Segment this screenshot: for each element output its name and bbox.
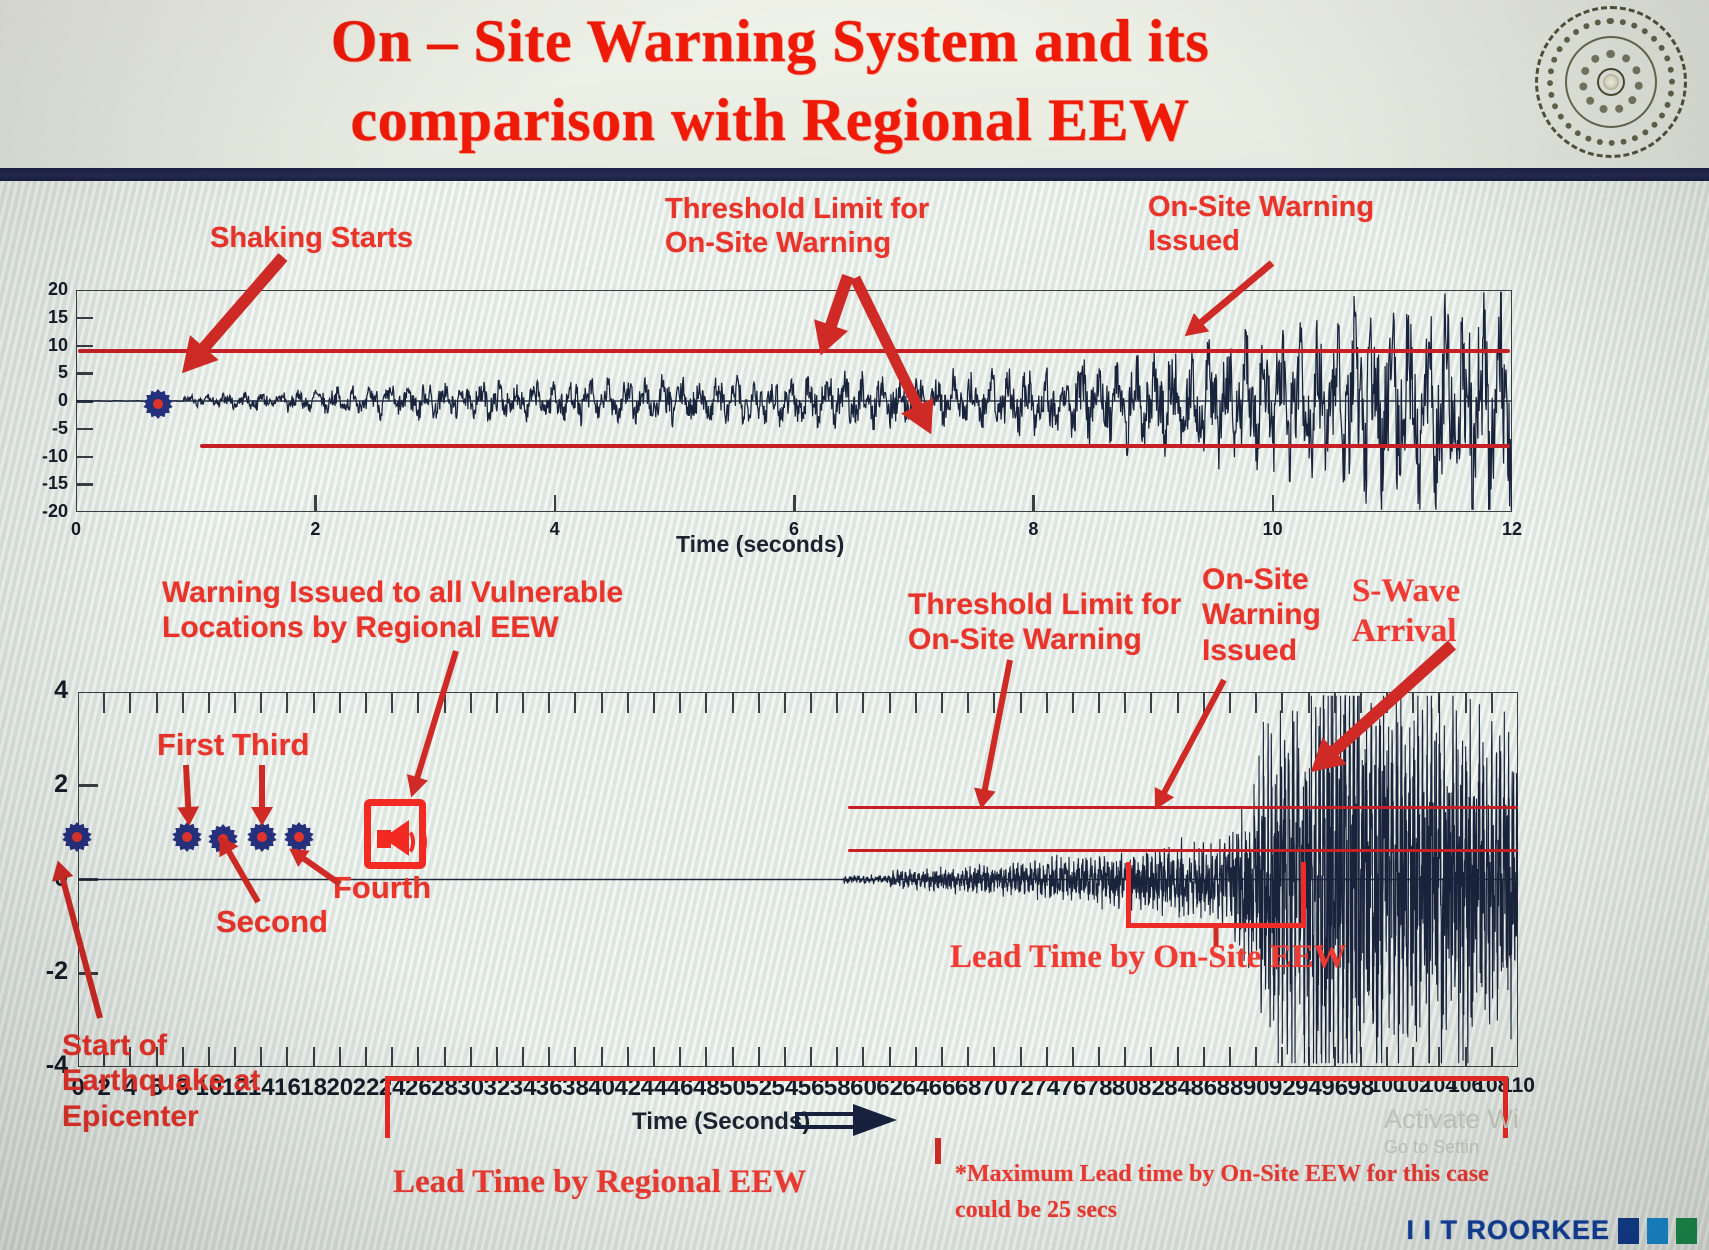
header-divider [0,168,1709,181]
bottom-y-tick-label: 4 [14,676,68,705]
third-label: Third [232,727,310,764]
top-x-tick-label: 4 [530,519,580,540]
threshold-limit-line-2: On-Site Warning [665,226,929,260]
onsite-line-1: On-Site [1202,562,1321,597]
top-y-tick-label: -10 [10,446,68,467]
note-line-1: *Maximum Lead time by On-Site EEW for th… [955,1156,1489,1192]
bottom-y-tick-label: -2 [14,957,68,986]
iit-roorkee-brand: I I T ROORKEE [1406,1215,1697,1246]
bottom-y-tick-label: 2 [14,770,68,799]
top-x-tick-label: 10 [1248,519,1298,540]
top-y-tick-label: 5 [10,362,68,383]
threshold-limit-label-bottom: Threshold Limit for On-Site Warning [908,587,1181,658]
regional-eew-line-2: Locations by Regional EEW [162,610,623,645]
on-site-warning-issued-label-top: On-Site Warning Issued [1148,190,1374,258]
brand-text: I I T ROORKEE [1406,1215,1610,1246]
top-y-tick-label: -5 [10,418,68,439]
threshold-limit-label-top: Threshold Limit for On-Site Warning [665,192,929,260]
top-waveform [76,290,1512,512]
top-y-tick-label: 0 [10,390,68,411]
onsite-line-3: Issued [1202,633,1321,668]
top-x-tick-label: 12 [1487,519,1537,540]
top-y-tick-label: 15 [10,307,68,328]
slide-header: On – Site Warning System and its compari… [0,0,1709,172]
regional-eew-line-1: Warning Issued to all Vulnerable [162,575,623,610]
s-wave-arrival-label: S-Wave Arrival [1352,572,1460,651]
start-of-earthquake-marker [62,822,92,852]
first-label: First [157,727,224,764]
brand-swatch-blue [1647,1218,1668,1244]
start-of-earthquake-label: Start of Earthquake at Epicenter [62,1028,260,1134]
top-upper-threshold-line [78,349,1510,353]
brand-swatch-navy [1618,1218,1639,1244]
top-y-tick-label: 20 [10,279,68,300]
threshold-bottom-line-1: Threshold Limit for [908,587,1181,622]
top-x-tick-label: 2 [290,519,340,540]
brand-swatch-green [1676,1218,1697,1244]
watermark-line-2: Go to Settin [1384,1137,1519,1158]
regional-eew-broadcast-icon [364,799,426,869]
swave-line-1: S-Wave [1352,572,1460,612]
top-chart-x-axis-label: Time (seconds) [676,531,844,558]
first-warning-marker [172,822,202,852]
on-site-warning-issued-label-bottom: On-Site Warning Issued [1202,562,1321,668]
threshold-limit-line-1: Threshold Limit for [665,192,929,226]
lead-time-regional-bracket [385,1076,1508,1138]
shaking-starts-label: Shaking Starts [210,221,413,255]
threshold-bottom-line-2: On-Site Warning [908,622,1181,657]
start-line-2: Earthquake at [62,1063,260,1098]
warning-issued-line-1: On-Site Warning [1148,190,1374,224]
lead-time-onsite-label: Lead Time by On-Site EEW [950,938,1347,978]
bottom-upper-threshold-line [848,806,1518,809]
top-y-tick-label: -15 [10,473,68,494]
page-title-line-1: On – Site Warning System and its [120,2,1420,81]
top-y-tick-label: 10 [10,335,68,356]
top-x-tick-label: 8 [1008,519,1058,540]
second-label: Second [216,904,328,941]
top-lower-threshold-line [200,444,1510,448]
fourth-label: Fourth [333,870,431,907]
top-x-tick-label: 0 [51,519,101,540]
watermark-line-1: Activate Wi [1384,1104,1519,1135]
lead-time-onsite-bracket [1126,862,1306,928]
bottom-lower-threshold-line [848,849,1518,852]
shaking-starts-marker [143,389,173,419]
iit-roorkee-seal-icon [1535,6,1687,158]
lead-time-regional-label: Lead Time by Regional EEW [393,1163,806,1203]
third-warning-marker [247,822,277,852]
onsite-line-2: Warning [1202,597,1321,632]
page-title-line-2: comparison with Regional EEW [120,81,1420,160]
warning-issued-line-2: Issued [1148,224,1374,258]
windows-activation-watermark: Activate Wi Go to Settin [1384,1104,1519,1158]
regional-eew-warning-label: Warning Issued to all Vulnerable Locatio… [162,575,623,646]
start-line-3: Epicenter [62,1099,260,1134]
page-title: On – Site Warning System and its compari… [120,2,1420,160]
start-line-1: Start of [62,1028,260,1063]
